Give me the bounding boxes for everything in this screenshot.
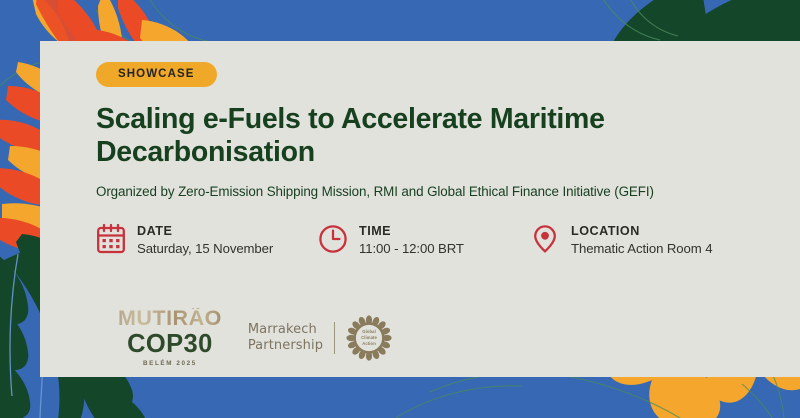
detail-time: TIME 11:00 - 12:00 BRT <box>318 223 530 258</box>
marrakech-partnership-logo: Marrakech Partnership <box>248 315 392 361</box>
cop30-mutirao-text: MUTIRÃO <box>118 308 222 330</box>
global-climate-action-emblem: Global Climate Action <box>346 315 392 361</box>
detail-date: DATE Saturday, 15 November <box>96 223 318 258</box>
detail-time-text: TIME 11:00 - 12:00 BRT <box>359 223 464 258</box>
cop30-belem-text: BELÉM 2025 <box>118 361 222 367</box>
global-climate-action-icon <box>346 315 392 361</box>
logo-row: MUTIRÃO COP30 BELÉM 2025 Marrakech Partn… <box>118 308 392 367</box>
detail-date-label: DATE <box>137 224 273 238</box>
calendar-icon <box>96 223 126 255</box>
cop30-logo: MUTIRÃO COP30 BELÉM 2025 <box>118 308 222 367</box>
detail-location-value: Thematic Action Room 4 <box>571 240 712 258</box>
marrakech-line-2: Partnership <box>248 338 323 354</box>
detail-location-text: LOCATION Thematic Action Room 4 <box>571 223 712 258</box>
clock-icon <box>318 223 348 255</box>
detail-location-label: LOCATION <box>571 224 712 238</box>
organizer-line: Organized by Zero-Emission Shipping Miss… <box>96 183 756 200</box>
detail-date-text: DATE Saturday, 15 November <box>137 223 273 258</box>
detail-time-value: 11:00 - 12:00 BRT <box>359 240 464 258</box>
event-banner: SHOWCASE Scaling e-Fuels to Accelerate M… <box>0 0 800 418</box>
cop30-text: COP30 <box>118 332 222 358</box>
detail-location: LOCATION Thematic Action Room 4 <box>530 223 756 258</box>
marrakech-line-1: Marrakech <box>248 322 323 338</box>
event-details-row: DATE Saturday, 15 November TIME 11:00 - … <box>96 223 756 258</box>
showcase-badge: SHOWCASE <box>96 62 217 87</box>
location-pin-icon <box>530 223 560 255</box>
banner-content: SHOWCASE Scaling e-Fuels to Accelerate M… <box>96 62 756 258</box>
detail-time-label: TIME <box>359 224 464 238</box>
detail-date-value: Saturday, 15 November <box>137 240 273 258</box>
event-title: Scaling e-Fuels to Accelerate Maritime D… <box>96 103 736 171</box>
marrakech-partnership-text: Marrakech Partnership <box>248 322 335 354</box>
